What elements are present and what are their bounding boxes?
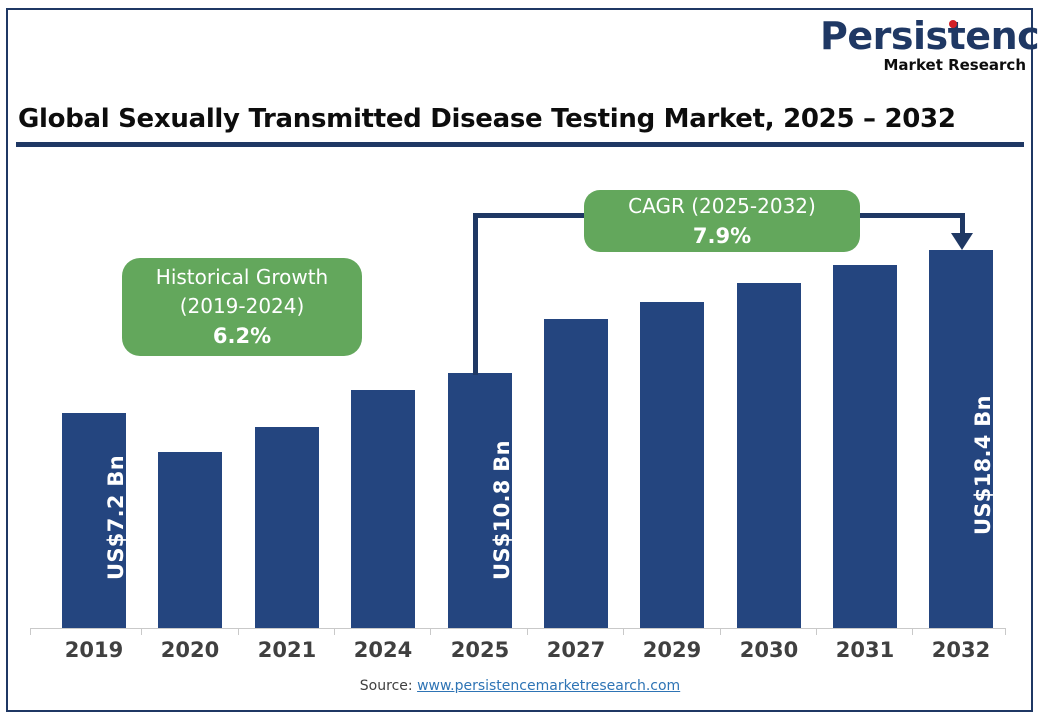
- page-title: Global Sexually Transmitted Disease Test…: [18, 104, 956, 134]
- historical-growth-line1: Historical Growth: [156, 263, 328, 292]
- historical-growth-line2: (2019-2024): [180, 292, 305, 321]
- source-link[interactable]: www.persistencemarketresearch.com: [417, 678, 680, 694]
- historical-growth-value: 6.2%: [213, 321, 271, 351]
- title-underline: [16, 142, 1024, 147]
- cagr-value: 7.9%: [693, 221, 751, 251]
- brand-dot-icon: [949, 20, 957, 28]
- cagr-callout: CAGR (2025-2032) 7.9%: [584, 190, 860, 252]
- cagr-line1: CAGR (2025-2032): [628, 192, 816, 221]
- historical-growth-callout: Historical Growth (2019-2024) 6.2%: [122, 258, 362, 356]
- brand-logo: Persistence Market Research: [820, 16, 1026, 76]
- source-label: Source:: [360, 678, 417, 694]
- chart-page: Persistence Market Research Global Sexua…: [0, 0, 1040, 720]
- brand-tagline: Market Research: [820, 56, 1026, 74]
- brand-name: Persistence: [820, 16, 1026, 56]
- source-line: Source: www.persistencemarketresearch.co…: [0, 678, 1040, 694]
